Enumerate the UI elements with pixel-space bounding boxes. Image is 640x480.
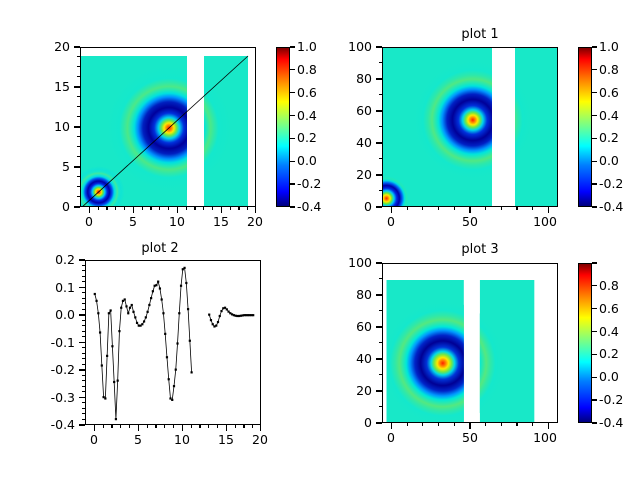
data-point-marker — [157, 281, 159, 283]
data-point-marker — [134, 316, 136, 318]
data-point-marker — [136, 322, 138, 324]
data-point-marker — [148, 304, 150, 306]
xtick-label: 5 — [118, 434, 158, 447]
data-point-marker — [101, 364, 103, 366]
data-point-marker — [111, 345, 113, 347]
data-point-marker — [113, 381, 115, 383]
data-point-marker — [210, 319, 212, 321]
data-point-marker — [155, 284, 157, 286]
data-point-marker — [183, 267, 185, 269]
data-point-marker — [187, 308, 189, 310]
xtick-label: 100 — [525, 216, 565, 229]
colorbar-label: -0.4 — [297, 201, 321, 214]
data-point-marker — [127, 312, 129, 314]
data-point-marker — [252, 314, 254, 316]
data-point-marker — [145, 316, 147, 318]
data-point-marker — [189, 340, 191, 342]
colorbar-label: 0.6 — [297, 87, 317, 100]
ytick-label: 40 — [328, 353, 372, 366]
ytick-label: -0.2 — [33, 364, 75, 377]
colorbar-label: 1.0 — [599, 41, 619, 54]
data-point-marker — [118, 330, 120, 332]
colorbar-label: -0.2 — [599, 178, 623, 191]
colorbar-label: 1.0 — [297, 41, 317, 54]
colorbar-top-left — [276, 47, 290, 207]
data-point-marker — [132, 311, 134, 313]
ytick-label: -0.3 — [33, 392, 75, 405]
heatmap-canvas-top-right — [383, 48, 558, 207]
ytick-label: 0.0 — [33, 309, 75, 322]
xtick-label: 0 — [69, 216, 109, 229]
data-point-marker — [191, 371, 193, 373]
panel-top-left: 20 15 10 5 0 0 5 — [0, 0, 320, 240]
data-point-marker — [164, 333, 166, 335]
data-point-marker — [176, 342, 178, 344]
panel-bottom-right: plot 3 — [320, 240, 640, 480]
colorbar-label: -0.2 — [297, 178, 321, 191]
data-point-marker — [226, 308, 228, 310]
data-point-marker — [159, 287, 161, 289]
colorbar-label: 0.0 — [599, 155, 619, 168]
colorbar-label: 0.6 — [599, 87, 619, 100]
xtick-label: 0 — [371, 216, 411, 229]
colorbar-label: -0.4 — [599, 417, 623, 430]
xtick-label: 0 — [74, 434, 114, 447]
data-point-marker — [106, 355, 108, 357]
ytick-label: 100 — [328, 41, 372, 54]
data-point-marker — [150, 297, 152, 299]
data-point-marker — [94, 293, 96, 295]
data-point-marker — [212, 323, 214, 325]
data-point-marker — [219, 315, 221, 317]
heatmap-canvas-top-left — [81, 48, 256, 207]
ytick-label: 100 — [328, 257, 372, 270]
figure-canvas: 20 15 10 5 0 0 5 — [0, 0, 640, 480]
data-point-marker — [147, 311, 149, 313]
ytick-label: 0 — [328, 201, 372, 214]
ytick-label: 20 — [34, 41, 70, 54]
xtick-label: 100 — [525, 432, 565, 445]
data-point-marker — [175, 369, 177, 371]
xtick-label: 5 — [113, 216, 153, 229]
panel-top-right: plot 1 — [320, 0, 640, 240]
colorbar-label: 0.6 — [599, 303, 619, 316]
data-point-marker — [208, 314, 210, 316]
field-patch-left — [383, 48, 533, 207]
data-point-marker — [220, 310, 222, 312]
axes-top-right — [382, 47, 558, 207]
data-point-marker — [168, 378, 170, 380]
panel-bottom-left: plot 2 — [0, 240, 320, 480]
colorbar-label: 0.2 — [599, 132, 619, 145]
data-point-marker — [115, 418, 117, 420]
ytick-label: 60 — [328, 105, 372, 118]
colorbar-label: 0.0 — [297, 155, 317, 168]
ytick-label: 5 — [34, 161, 70, 174]
data-point-marker — [152, 290, 154, 292]
data-point-marker — [141, 323, 143, 325]
data-point-marker — [104, 397, 106, 399]
data-point-marker — [171, 399, 173, 401]
colorbar-label: 0.4 — [297, 110, 317, 123]
data-point-marker — [162, 312, 164, 314]
colorbar-label: -0.2 — [599, 394, 623, 407]
data-point-marker — [178, 312, 180, 314]
ytick-label: 80 — [328, 73, 372, 86]
ytick-label: 0 — [328, 417, 372, 430]
lineplot-canvas — [86, 261, 261, 425]
data-point-marker — [124, 298, 126, 300]
ytick-label: 0.2 — [33, 254, 75, 267]
data-point-marker — [117, 380, 119, 382]
data-point-marker — [120, 307, 122, 309]
xtick-label: 20 — [240, 434, 280, 447]
ytick-label: 0 — [34, 201, 70, 214]
ytick-label: 10 — [34, 121, 70, 134]
data-point-marker — [97, 312, 99, 314]
colorbar-label: 0.4 — [599, 326, 619, 339]
colorbar-top-right — [578, 47, 592, 207]
colorbar-label: 0.0 — [599, 371, 619, 384]
ytick-label: 20 — [328, 385, 372, 398]
data-point-marker — [180, 285, 182, 287]
data-point-marker — [95, 300, 97, 302]
ytick-label: 20 — [328, 169, 372, 182]
xtick-label: 10 — [162, 434, 202, 447]
colorbar-label: 0.8 — [297, 64, 317, 77]
colorbar-label: 0.8 — [599, 64, 619, 77]
data-point-marker — [129, 307, 131, 309]
data-point-marker — [166, 356, 168, 358]
colorbar-label: 0.2 — [297, 132, 317, 145]
data-point-marker — [185, 282, 187, 284]
data-point-marker — [161, 298, 163, 300]
data-point-marker — [110, 309, 112, 311]
ytick-label: 40 — [328, 137, 372, 150]
colorbar-label: 0.4 — [599, 110, 619, 123]
line-series — [209, 308, 253, 327]
colorbar-label: -0.4 — [599, 201, 623, 214]
colorbar-label: 0.8 — [599, 280, 619, 293]
ytick-label: 0.1 — [33, 282, 75, 295]
data-point-marker — [143, 320, 145, 322]
data-point-marker — [215, 325, 217, 327]
xtick-label: 0 — [371, 432, 411, 445]
xtick-label: 50 — [450, 432, 490, 445]
ytick-label: 15 — [34, 81, 70, 94]
xtick-label: 50 — [450, 216, 490, 229]
axes-top-left — [80, 47, 256, 207]
colorbar-label: 0.2 — [599, 348, 619, 361]
ytick-label: 80 — [328, 289, 372, 302]
data-point-marker — [131, 304, 133, 306]
ytick-label: -0.1 — [33, 337, 75, 350]
data-point-marker — [173, 385, 175, 387]
ytick-label: 60 — [328, 321, 372, 334]
xtick-label: 20 — [235, 216, 275, 229]
data-point-marker — [125, 305, 127, 307]
data-point-marker — [108, 312, 110, 314]
axes-bottom-left — [85, 260, 261, 425]
heatmap-canvas-bottom-right — [383, 264, 558, 423]
data-point-marker — [99, 331, 101, 333]
axes-bottom-right — [382, 263, 558, 423]
ytick-label: -0.4 — [33, 419, 75, 432]
data-point-marker — [217, 321, 219, 323]
xtick-label: 10 — [157, 216, 197, 229]
colorbar-bottom-right — [578, 263, 592, 423]
